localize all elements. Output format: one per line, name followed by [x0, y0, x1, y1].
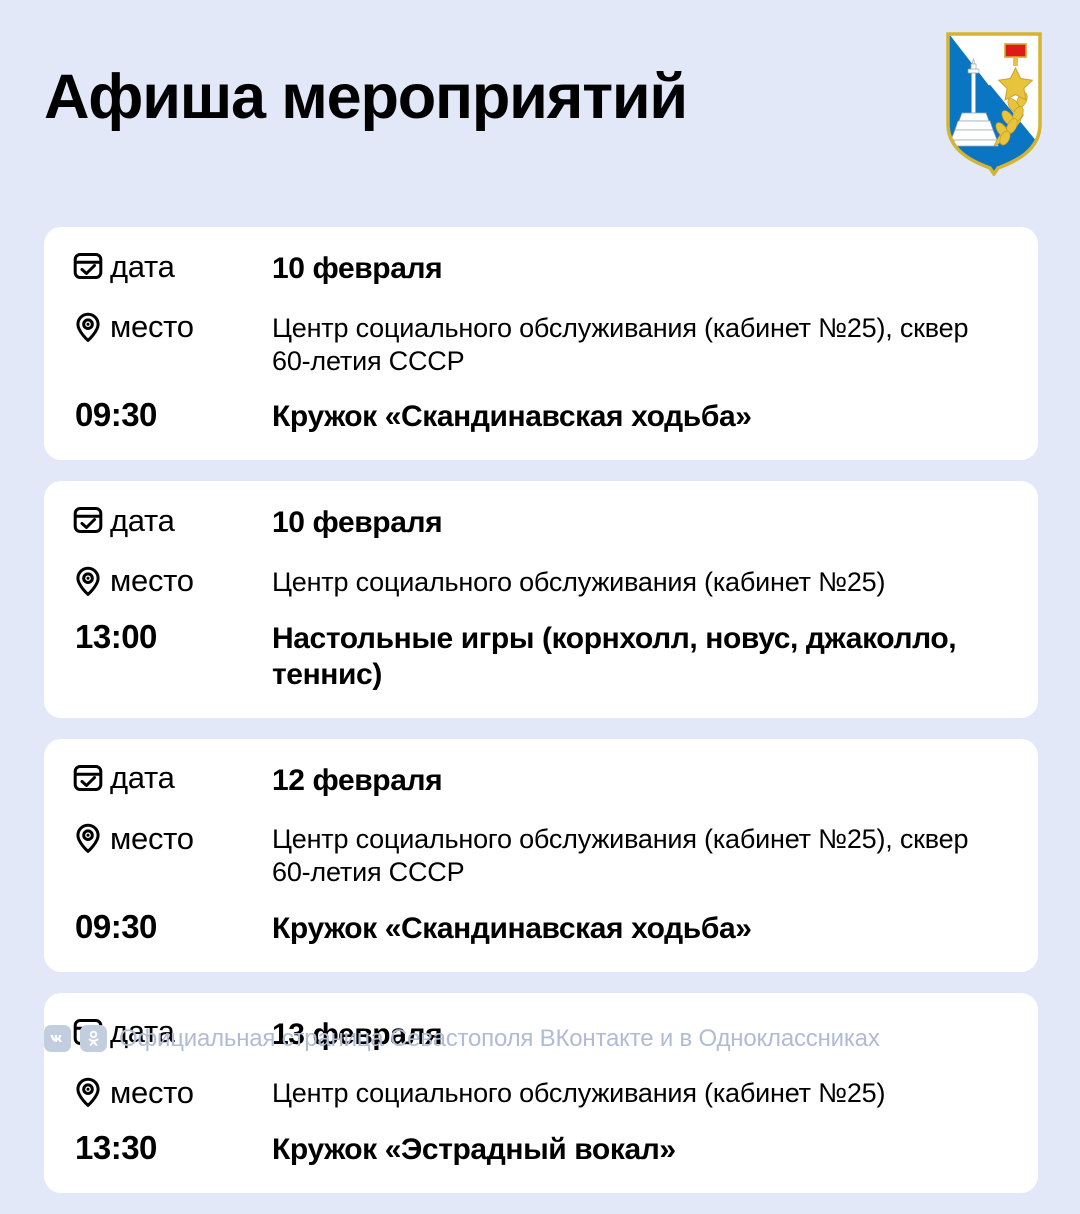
- event-date-value: 10 февраля: [272, 503, 1010, 542]
- date-label-group: дата: [72, 503, 272, 536]
- event-time-value: 09:30: [72, 910, 157, 943]
- event-time-row: 13:00 Настольные игры (корнхолл, новус, …: [72, 619, 1010, 694]
- time-label-group: 13:30: [72, 1130, 272, 1164]
- event-time-value: 13:30: [72, 1131, 157, 1164]
- event-place-row: место Центр социального обслуживания (ка…: [72, 1075, 1010, 1110]
- place-label-group: место: [72, 1075, 272, 1108]
- place-label: место: [110, 565, 194, 596]
- page-title: Афиша мероприятий: [44, 64, 687, 130]
- event-title-value: Настольные игры (корнхолл, новус, джакол…: [272, 619, 1010, 694]
- event-place-value: Центр социального обслуживания (кабинет …: [272, 564, 1010, 599]
- location-pin-icon: [72, 311, 104, 343]
- event-date-row: дата 10 февраля: [72, 249, 1010, 288]
- calendar-check-icon: [72, 504, 104, 536]
- place-label-group: место: [72, 564, 272, 597]
- place-label: место: [110, 823, 194, 854]
- event-place-value: Центр социального обслуживания (кабинет …: [272, 310, 1010, 378]
- event-date-row: дата 10 февраля: [72, 503, 1010, 542]
- date-label: дата: [110, 251, 175, 282]
- event-place-row: место Центр социального обслуживания (ка…: [72, 564, 1010, 599]
- date-label: дата: [110, 762, 175, 793]
- time-label-group: 09:30: [72, 909, 272, 943]
- event-place-row: место Центр социального обслуживания (ка…: [72, 821, 1010, 889]
- place-label-group: место: [72, 310, 272, 343]
- location-pin-icon: [72, 1076, 104, 1108]
- event-date-value: 12 февраля: [272, 761, 1010, 800]
- event-time-row: 09:30 Кружок «Скандинавская ходьба»: [72, 397, 1010, 436]
- time-label-group: 13:00: [72, 619, 272, 653]
- place-label-group: место: [72, 821, 272, 854]
- event-place-value: Центр социального обслуживания (кабинет …: [272, 821, 1010, 889]
- time-label-group: 09:30: [72, 397, 272, 431]
- location-pin-icon: [72, 822, 104, 854]
- event-time-row: 09:30 Кружок «Скандинавская ходьба»: [72, 909, 1010, 948]
- place-label: место: [110, 311, 194, 342]
- event-date-row: дата 12 февраля: [72, 761, 1010, 800]
- calendar-check-icon: [72, 250, 104, 282]
- event-time-value: 09:30: [72, 398, 157, 431]
- event-place-value: Центр социального обслуживания (кабинет …: [272, 1075, 1010, 1110]
- event-card[interactable]: дата 13 февраля место Центр социального …: [44, 993, 1038, 1193]
- event-title-value: Кружок «Скандинавская ходьба»: [272, 397, 1010, 436]
- calendar-check-icon: [72, 762, 104, 794]
- event-date-value: 10 февраля: [272, 249, 1010, 288]
- event-time-value: 13:00: [72, 620, 157, 653]
- event-card[interactable]: дата 12 февраля место Центр социального …: [44, 739, 1038, 972]
- event-title-value: Кружок «Эстрадный вокал»: [272, 1130, 1010, 1169]
- event-title-value: Кружок «Скандинавская ходьба»: [272, 909, 1010, 948]
- vk-icon[interactable]: [44, 1025, 71, 1052]
- date-label-group: дата: [72, 249, 272, 282]
- date-label: дата: [110, 505, 175, 536]
- event-card[interactable]: дата 10 февраля место Центр социального …: [44, 227, 1038, 460]
- place-label: место: [110, 1077, 194, 1108]
- events-list: дата 10 февраля место Центр социального …: [44, 227, 1038, 1214]
- sevastopol-coat-of-arms-emblem: [942, 28, 1046, 176]
- date-label-group: дата: [72, 761, 272, 794]
- odnoklassniki-icon[interactable]: [80, 1025, 107, 1052]
- event-card[interactable]: дата 10 февраля место Центр социального …: [44, 481, 1038, 718]
- page-header: Афиша мероприятий: [0, 0, 1080, 215]
- event-place-row: место Центр социального обслуживания (ка…: [72, 310, 1010, 378]
- location-pin-icon: [72, 565, 104, 597]
- footer: Официальная страница Севастополя ВКонтак…: [44, 1025, 880, 1052]
- footer-text: Официальная страница Севастополя ВКонтак…: [119, 1027, 880, 1051]
- event-time-row: 13:30 Кружок «Эстрадный вокал»: [72, 1130, 1010, 1169]
